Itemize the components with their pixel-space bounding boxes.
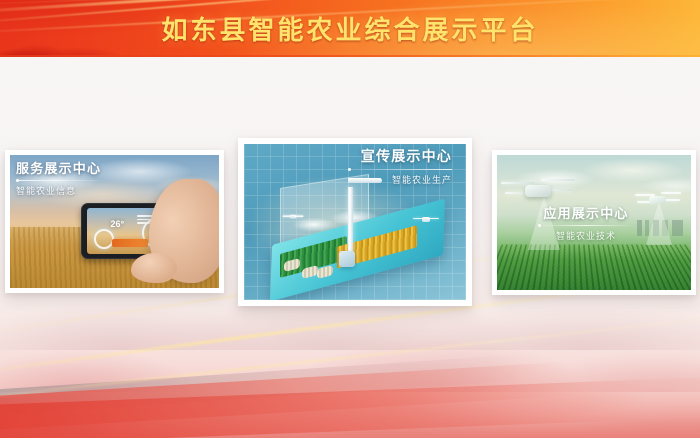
header-banner: 如东县智能农业综合展示平台 bbox=[0, 0, 700, 57]
card-service-title: 服务展示中心 bbox=[16, 158, 108, 177]
card-service-divider bbox=[16, 180, 108, 181]
sensor-pole bbox=[348, 187, 353, 259]
card-promotion-caption: 宣传展示中心 智能农业生产 bbox=[348, 146, 452, 186]
card-application-caption: 应用展示中心 智能农业技术 bbox=[538, 203, 634, 242]
card-promotion-subtitle: 智能农业生产 bbox=[348, 173, 452, 186]
card-promotion-divider bbox=[348, 169, 452, 170]
card-application-divider bbox=[538, 225, 634, 226]
drone-icon bbox=[635, 190, 681, 210]
card-application-subtitle: 智能农业技术 bbox=[538, 229, 634, 242]
water-tank bbox=[339, 251, 355, 267]
crop-field-rows bbox=[497, 244, 691, 290]
card-promotion-title: 宣传展示中心 bbox=[348, 146, 452, 166]
hud-temperature-value: 26° bbox=[110, 219, 124, 229]
page-root: 如东县智能农业综合展示平台 26° 服务展示中心 智能农业信息 bbox=[0, 0, 700, 438]
hud-status-chip bbox=[112, 239, 148, 247]
drone-icon bbox=[413, 216, 439, 224]
hud-gauge-left-icon bbox=[94, 229, 114, 249]
card-service-caption: 服务展示中心 智能农业信息 bbox=[16, 158, 108, 197]
page-title: 如东县智能农业综合展示平台 bbox=[0, 0, 700, 57]
drone-icon bbox=[282, 213, 303, 219]
card-service-subtitle: 智能农业信息 bbox=[16, 184, 108, 197]
thumb-illustration bbox=[131, 253, 177, 283]
card-application-title: 应用展示中心 bbox=[538, 203, 634, 222]
